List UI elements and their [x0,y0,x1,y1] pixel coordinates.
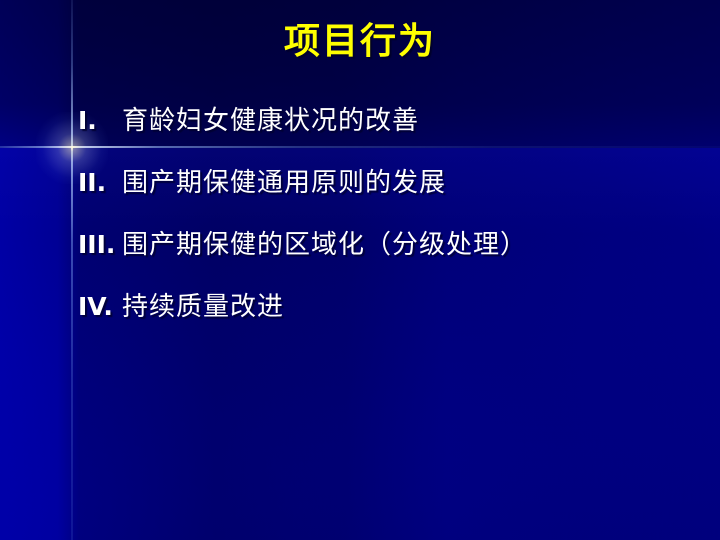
slide-body-list: I. 育龄妇女健康状况的改善 II. 围产期保健通用原则的发展 III. 围产期… [78,100,678,348]
list-item-marker: II. [78,168,122,197]
list-item-label: 围产期保健的区域化（分级处理） [122,224,678,261]
slide-title: 项目行为 [0,20,720,64]
list-item-marker: IV. [78,292,122,321]
list-item: IV. 持续质量改进 [78,286,678,348]
list-item: I. 育龄妇女健康状况的改善 [78,100,678,162]
list-item: III. 围产期保健的区域化（分级处理） [78,224,678,286]
list-item-marker: I. [78,106,122,135]
list-item-label: 育龄妇女健康状况的改善 [122,100,678,137]
list-item-label: 围产期保健通用原则的发展 [122,162,678,199]
slide-canvas: 项目行为 I. 育龄妇女健康状况的改善 II. 围产期保健通用原则的发展 III… [0,0,720,540]
list-item-marker: III. [78,230,122,259]
list-item-label: 持续质量改进 [122,286,678,323]
decorative-vertical-line-icon [71,0,73,540]
list-item: II. 围产期保健通用原则的发展 [78,162,678,224]
